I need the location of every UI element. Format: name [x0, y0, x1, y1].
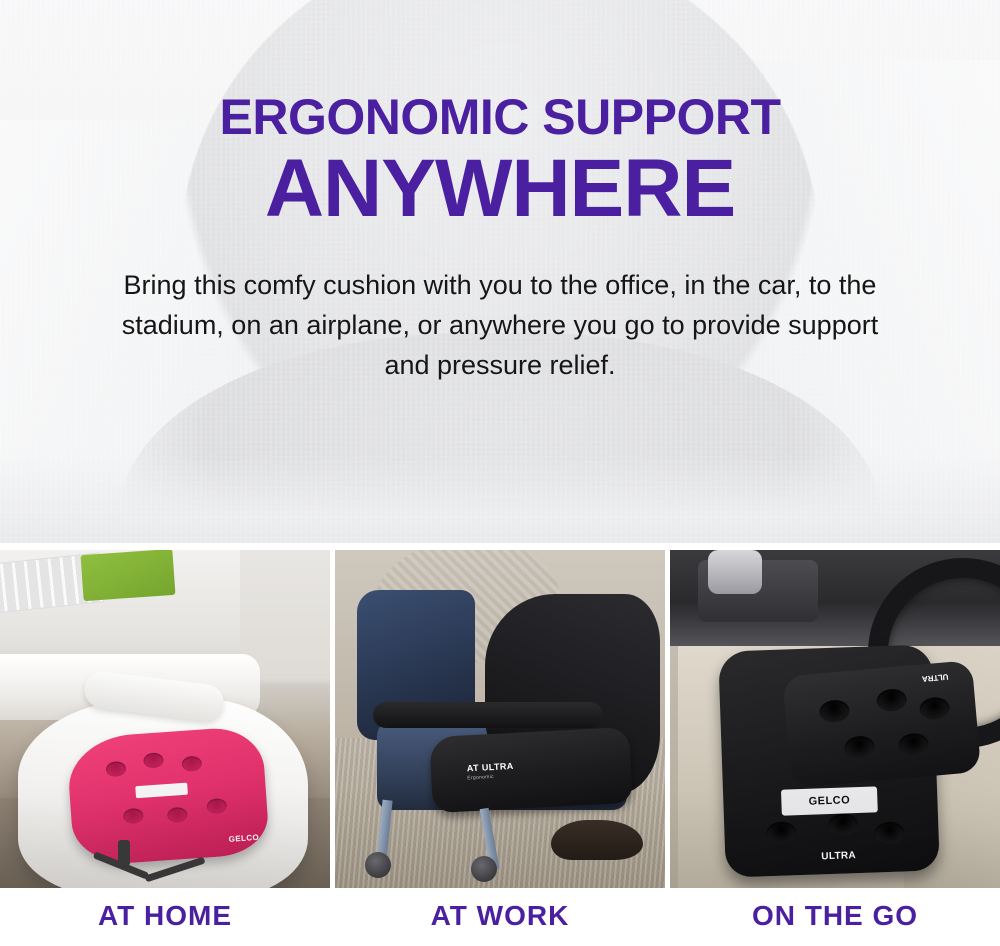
green-notebook-object	[81, 550, 176, 601]
product-infographic-page: ERGONOMIC SUPPORT ANYWHERE Bring this co…	[0, 0, 1000, 946]
black-seat-cushion-car: ULTRA GELCO ULTRA	[718, 644, 940, 877]
black-seat-cushion-car-second: ULTRA	[782, 660, 981, 788]
cushion-brand-badge: GELCO	[781, 786, 878, 815]
caption-on-the-go: ON THE GO	[670, 900, 1000, 932]
cushion-brand-subtitle: Ergonomic	[467, 774, 494, 781]
hero-section: ERGONOMIC SUPPORT ANYWHERE Bring this co…	[0, 0, 1000, 543]
caption-at-home: AT HOME	[0, 900, 330, 932]
chair-base-legs	[92, 840, 212, 886]
use-case-image-at-home: GELCO	[0, 550, 330, 888]
chair-caster-left	[365, 852, 391, 878]
work-chair-armrest	[373, 702, 603, 728]
seated-person-shoe	[551, 820, 643, 860]
use-case-image-at-work: AT ULTRA Ergonomic	[335, 550, 665, 888]
hero-headline-line2: ANYWHERE	[265, 148, 735, 230]
use-case-image-on-the-go: ULTRA GELCO ULTRA	[670, 550, 1000, 888]
gear-shifter	[708, 550, 762, 594]
cushion-brand-logo-top: ULTRA	[922, 672, 949, 683]
black-seat-cushion-work: AT ULTRA Ergonomic	[429, 727, 633, 813]
hero-subcopy: Bring this comfy cushion with you to the…	[100, 266, 900, 386]
caption-at-work: AT WORK	[335, 900, 665, 932]
use-case-image-row: GELCO AT ULTRA Ergonomic	[0, 550, 1000, 888]
chair-caster-right	[471, 856, 497, 882]
cushion-brand-logo-bottom: ULTRA	[821, 850, 856, 862]
hero-headline-line1: ERGONOMIC SUPPORT	[220, 92, 781, 142]
hero-content: ERGONOMIC SUPPORT ANYWHERE Bring this co…	[0, 0, 1000, 543]
caption-row: AT HOME AT WORK ON THE GO	[0, 900, 1000, 932]
cushion-brand-logo: AT ULTRA	[467, 761, 514, 773]
